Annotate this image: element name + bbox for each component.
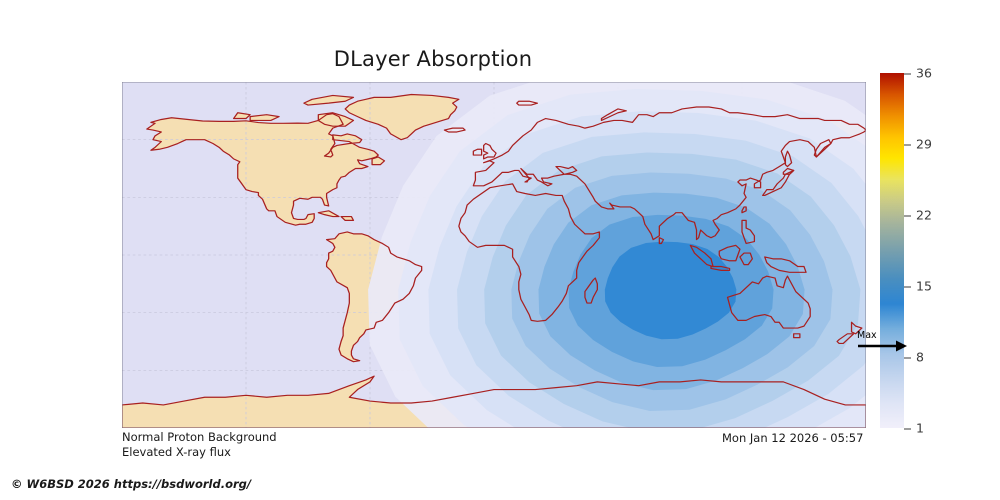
colorbar-tick: 8	[904, 350, 924, 365]
colorbar-tick: 1	[904, 421, 924, 436]
copyright-label: © W6BSD 2026 https://bsdworld.org/	[11, 477, 251, 491]
colorbar-axis-label: Affected Frequency (MHz)	[930, 73, 1000, 428]
timestamp-label: Mon Jan 12 2026 - 05:57	[722, 431, 863, 445]
colorbar-tick: 36	[904, 66, 932, 81]
colorbar-tick: 29	[904, 137, 932, 152]
dlayer-absorption-page: DLayer Absorption Max 1815222936	[0, 0, 1000, 500]
colorbar-gradient	[880, 73, 904, 428]
max-marker-label: Max	[857, 330, 877, 341]
colorbar-max-marker: Max	[856, 332, 908, 358]
colorbar-tick: 15	[904, 279, 932, 294]
colorbar[interactable]: Max	[880, 73, 904, 428]
world-map-svg	[122, 82, 866, 428]
world-map[interactable]	[122, 82, 866, 428]
absorption-contours	[368, 82, 866, 428]
colorbar-tick: 22	[904, 208, 932, 223]
proton-status-text: Normal Proton Background	[122, 430, 277, 444]
page-title: DLayer Absorption	[0, 47, 866, 71]
xray-status-text: Elevated X-ray flux	[122, 445, 231, 459]
